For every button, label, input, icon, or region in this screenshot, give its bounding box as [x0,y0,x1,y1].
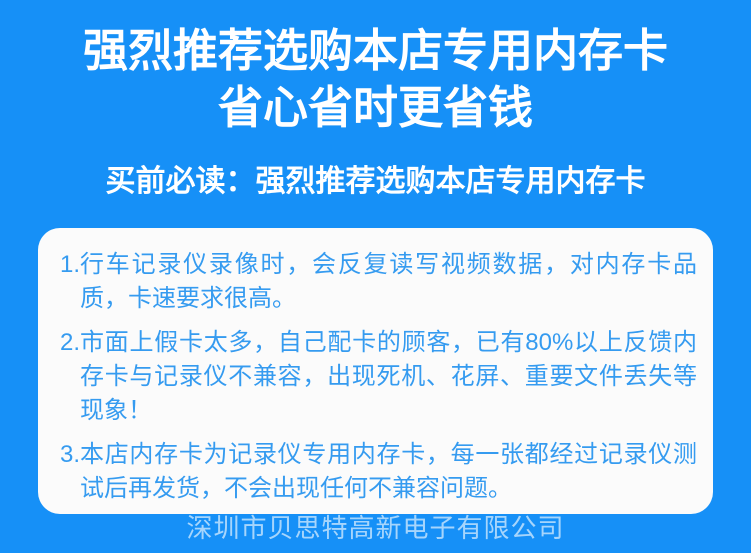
list-item: 2. 市面上假卡太多，自己配卡的顾客，已有80%以上反馈内存卡与记录仪不兼容，出… [54,326,697,428]
list-item-text: 市面上假卡太多，自己配卡的顾客，已有80%以上反馈内存卡与记录仪不兼容，出现死机… [80,326,697,428]
list-item: 1. 行车记录仪录像时，会反复读写视频数据，对内存卡品质，卡速要求很高。 [54,248,697,316]
info-card: 1. 行车记录仪录像时，会反复读写视频数据，对内存卡品质，卡速要求很高。 2. … [38,228,713,514]
headline-line-1: 强烈推荐选购本店专用内存卡 [0,22,751,79]
list-item-index: 2. [54,326,80,360]
page-title: 强烈推荐选购本店专用内存卡 省心省时更省钱 [0,22,751,136]
headline-line-2: 省心省时更省钱 [0,79,751,136]
promo-banner: 强烈推荐选购本店专用内存卡 省心省时更省钱 买前必读：强烈推荐选购本店专用内存卡… [0,0,751,553]
subheadline: 买前必读：强烈推荐选购本店专用内存卡 [0,163,751,201]
list-item-text: 本店内存卡为记录仪专用内存卡，每一张都经过记录仪测试后再发货，不会出现任何不兼容… [80,438,697,506]
list-item-index: 3. [54,438,80,472]
list-item-text: 行车记录仪录像时，会反复读写视频数据，对内存卡品质，卡速要求很高。 [80,248,697,316]
list-item-index: 1. [54,248,80,282]
company-watermark: 深圳市贝思特高新电子有限公司 [0,512,751,544]
notice-list: 1. 行车记录仪录像时，会反复读写视频数据，对内存卡品质，卡速要求很高。 2. … [54,248,697,506]
list-item: 3. 本店内存卡为记录仪专用内存卡，每一张都经过记录仪测试后再发货，不会出现任何… [54,438,697,506]
